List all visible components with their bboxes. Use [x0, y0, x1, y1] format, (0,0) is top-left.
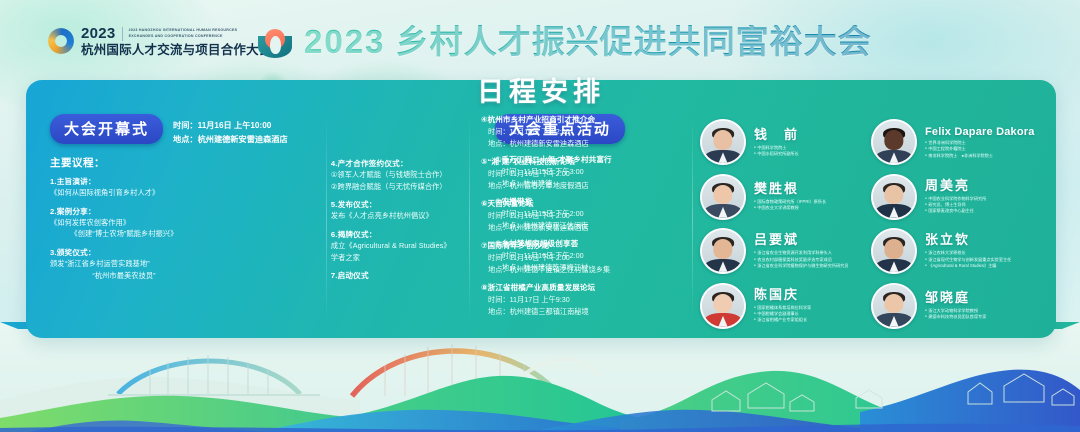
activity-title: ⑥天目共富论坛 — [481, 198, 681, 209]
agenda-item-line: ②跨界融合赋能（与无忧传媒合作） — [331, 181, 481, 193]
activity-place: 地点：杭州建德下涟镇之江村富饶乡集 — [481, 264, 681, 276]
speaker-role: 中国水稻研究所副所长 — [754, 151, 799, 157]
activities-column-2: ④杭州市乡村产业招商引才推介会时间：11月16日 下午2:00地点：杭州建德新安… — [481, 114, 681, 317]
activity-item: ⑦国际青年乡创沙龙时间：11月16日 下午2:00地点：杭州建德下涟镇之江村富饶… — [481, 240, 681, 275]
opening-ceremony-badge: 大会开幕式 — [50, 114, 163, 144]
hangzhou-conference-logo-icon — [48, 28, 74, 54]
activity-time: 时间：11月16日 下午2:00 — [481, 168, 681, 180]
speaker-role: 浙江省柑橘产业专家组组长 — [754, 317, 811, 323]
speaker-roles: 浙江农林大学原校长浙江省现代生物学与创新发展重点实验室主任《Agricultur… — [925, 250, 1011, 269]
agenda-item-title: 7.启动仪式 — [331, 270, 481, 281]
opening-ceremony-meta: 时间：11月16日 上午10:00 地点：杭州建德新安雷迪森酒店 — [173, 114, 288, 146]
speaker-name: Felix Dapare Dakora — [925, 126, 1035, 139]
page-title-year: 2023 — [304, 23, 385, 60]
agenda-item-line: 成立《Agricultural & Rural Studies》 — [331, 240, 481, 252]
activity-title: ⑦国际青年乡创沙龙 — [481, 240, 681, 251]
activity-item: ⑤“湘·建”农业科技创新论坛时间：11月16日 下午2:00地点：杭州富春芳草地… — [481, 156, 681, 191]
activity-time: 时间：11月16日 下午2:00 — [481, 210, 681, 222]
speaker-card: 樊胜根国际食物政策研究所（IFPRI）原所长中国农业大学讲席教授 — [700, 173, 871, 222]
speaker-roles: 中国农业科学院作物科学研究所研究员、博士生导师国家藜麦改良中心副主任 — [925, 196, 986, 215]
logo-text-block: 2023 2023 HANGZHOU INTERNATIONAL HUMAN R… — [81, 26, 272, 57]
activity-place: 地点：杭州建德新安雷迪森酒店 — [481, 138, 681, 150]
speaker-avatar — [700, 228, 746, 274]
bottom-scenery — [0, 322, 1080, 432]
logo-divider — [122, 27, 123, 41]
activity-time: 时间：11月17日 上午9:30 — [481, 294, 681, 306]
speaker-card: 周美亮中国农业科学院作物科学研究所研究员、博士生导师国家藜麦改良中心副主任 — [871, 173, 1042, 222]
activity-place: 地点：杭州建德三都镇江南秘境 — [481, 306, 681, 318]
activity-time: 时间：11月16日 下午2:00 — [481, 126, 681, 138]
logo-year: 2023 — [81, 26, 116, 41]
speakers-column-right: Felix Dapare Dakora世界非洲科学院院士中国工程院外籍院士南非科… — [871, 116, 1042, 330]
logo-english-name: 2023 HANGZHOU INTERNATIONAL HUMAN RESOUR… — [129, 28, 238, 38]
speaker-avatar — [871, 228, 917, 274]
agenda-item-line: ①领军人才赋能（与钱塘院士合作） — [331, 169, 481, 181]
activity-item: ④杭州市乡村产业招商引才推介会时间：11月16日 下午2:00地点：杭州建德新安… — [481, 114, 681, 149]
speaker-role: 国家藜麦改良中心副主任 — [925, 208, 986, 214]
agenda-item-title: 1.主旨演讲： — [50, 176, 198, 187]
agenda-item-line: 《如何发挥农创客作用》 — [50, 217, 198, 229]
activity-item: ⑧浙江省柑橘产业高质量发展论坛时间：11月17日 上午9:30地点：杭州建德三都… — [481, 282, 681, 317]
activity-place: 地点：杭州富春芳草地度假酒店 — [481, 180, 681, 192]
speaker-card: Felix Dapare Dakora世界非洲科学院院士中国工程院外籍院士南非科… — [871, 118, 1042, 167]
agenda-section: 大会开幕式 时间：11月16日 上午10:00 地点：杭州建德新安雷迪森酒店 主… — [26, 114, 694, 330]
speaker-role: 建德市科技特派员团队首席专家 — [925, 314, 986, 320]
agenda-item-line: “杭州市最美农技员” — [50, 270, 198, 282]
agenda-item-title: 5.发布仪式： — [331, 199, 481, 210]
speaker-card: 钱 前中国科学院院士中国水稻研究所副所长 — [700, 118, 871, 167]
speaker-roles: 浙江省农业生物资源开发利用学科带头人农业农村部植保类科技奖励评选专家成员浙江省农… — [754, 250, 849, 269]
speaker-avatar — [871, 174, 917, 220]
agenda-left-items: 1.主旨演讲：《如何从国际视角引育乡村人才》2.案例分享：《如何发挥农创客作用》… — [50, 176, 198, 281]
agenda-item-title: 6.揭牌仪式： — [331, 229, 481, 240]
speaker-role: 《Agricultural & Rural Studies》主编 — [925, 263, 1011, 269]
speaker-role: 中国农业大学讲席教授 — [754, 205, 826, 211]
speaker-name: 邹晓庭 — [925, 291, 986, 306]
speaker-roles: 中国科学院院士中国水稻研究所副所长 — [754, 145, 799, 157]
speaker-roles: 国际食物政策研究所（IFPRI）原所长中国农业大学讲席教授 — [754, 199, 826, 211]
speaker-card: 张立钦浙江农林大学原校长浙江省现代生物学与创新发展重点实验室主任《Agricul… — [871, 227, 1042, 276]
speaker-card: 吕要斌浙江省农业生物资源开发利用学科带头人农业农村部植保类科技奖励评选专家成员浙… — [700, 227, 871, 276]
speaker-name: 樊胜根 — [754, 182, 826, 197]
speakers-column-left: 钱 前中国科学院院士中国水稻研究所副所长樊胜根国际食物政策研究所（IFPRI）原… — [700, 116, 871, 330]
agenda-right-items: 4.产才合作签约仪式：①领军人才赋能（与钱塘院士合作）②跨界融合赋能（与无忧传媒… — [331, 158, 481, 281]
speaker-name: 张立钦 — [925, 233, 1011, 248]
speaker-role: 浙江省农业科学院植物保护与微生物研究所研究员 — [754, 263, 849, 269]
speaker-avatar — [700, 119, 746, 165]
speaker-card: 邹晓庭浙江大学动物科学学院教授建德市科技特派员团队首席专家 — [871, 282, 1042, 331]
speaker-name: 吕要斌 — [754, 233, 849, 248]
speaker-avatar — [871, 283, 917, 329]
speaker-roles: 世界非洲科学院院士中国工程院外籍院士南非科学院院士 ●非洲科学院院士 — [925, 140, 1035, 159]
logo-chinese-name: 杭州国际人才交流与项目合作大会 — [81, 44, 272, 57]
speaker-avatar — [700, 283, 746, 329]
agenda-subtitle: 主要议程： — [50, 155, 331, 170]
activity-place: 地点：杭州建德新安雷迪森酒店 — [481, 222, 681, 234]
agenda-item-title: 2.案例分享： — [50, 206, 198, 217]
agenda-item-title: 4.产才合作签约仪式： — [331, 158, 481, 169]
agenda-item-line: 《创建“博士农场”赋能乡村振兴》 — [50, 228, 198, 240]
main-title-lockup: 2023 乡村人才振兴促进共同富裕大会 — [258, 24, 872, 58]
speaker-roles: 浙江大学动物科学学院教授建德市科技特派员团队首席专家 — [925, 308, 986, 320]
speaker-card: 陈国庆国家柑橘体系栽培岗位科学家中国柑橘学会副理事长浙江省柑橘产业专家组组长 — [700, 282, 871, 331]
speaker-avatar — [700, 174, 746, 220]
agenda-item-line: 颁发“浙江省乡村运营实践基地” — [50, 258, 198, 270]
activity-time: 时间：11月16日 下午2:00 — [481, 252, 681, 264]
scenery-illustration — [0, 322, 1080, 432]
agenda-item-line: 学者之家 — [331, 252, 481, 264]
speaker-avatar — [871, 119, 917, 165]
column-divider-2 — [469, 118, 470, 324]
agenda-item-line: 《如何从国际视角引育乡村人才》 — [50, 187, 198, 199]
page-title-text: 乡村人才振兴促进共同富裕大会 — [385, 23, 871, 60]
activity-title: ④杭州市乡村产业招商引才推介会 — [481, 114, 681, 125]
activity-title: ⑤“湘·建”农业科技创新论坛 — [481, 156, 681, 167]
schedule-card: 日程安排 大会开幕式 时间：11月16日 上午10:00 地点：杭州建德新安雷迪… — [26, 80, 1056, 338]
speaker-name: 陈国庆 — [754, 288, 811, 303]
agenda-item-title: 3.颁奖仪式： — [50, 247, 198, 258]
speaker-name: 钱 前 — [754, 128, 799, 143]
speakers-divider — [692, 116, 693, 320]
speaker-name: 周美亮 — [925, 179, 986, 194]
page-title: 2023 乡村人才振兴促进共同富裕大会 — [304, 25, 872, 58]
speaker-role: 南非科学院院士 ●非洲科学院院士 — [925, 153, 1035, 159]
speaker-roles: 国家柑橘体系栽培岗位科学家中国柑橘学会副理事长浙江省柑橘产业专家组组长 — [754, 305, 811, 324]
agenda-item-line: 发布《人才点亮乡村杭州倡议》 — [331, 210, 481, 222]
activity-item: ⑥天目共富论坛时间：11月16日 下午2:00地点：杭州建德新安雷迪森酒店 — [481, 198, 681, 233]
conference-logo-lockup: 2023 2023 HANGZHOU INTERNATIONAL HUMAN R… — [48, 26, 272, 57]
speakers-section: 钱 前中国科学院院士中国水稻研究所副所长樊胜根国际食物政策研究所（IFPRI）原… — [694, 114, 1056, 330]
speaker-role: 浙江省现代生物学与创新发展重点实验室主任 — [925, 257, 1011, 263]
sprout-seed-icon — [258, 24, 292, 58]
poster-header: 2023 2023 HANGZHOU INTERNATIONAL HUMAN R… — [0, 0, 1080, 84]
activity-title: ⑧浙江省柑橘产业高质量发展论坛 — [481, 282, 681, 293]
column-divider-1 — [326, 118, 327, 324]
